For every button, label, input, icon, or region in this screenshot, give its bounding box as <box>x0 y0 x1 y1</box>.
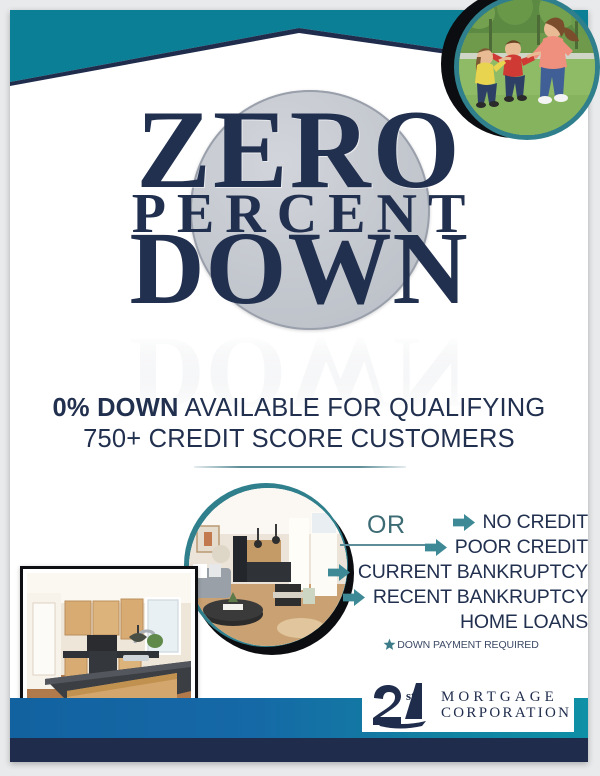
list-item: NO CREDIT <box>340 510 588 535</box>
living-room-photo <box>189 488 347 646</box>
headline-line-down: DOWN <box>10 224 588 313</box>
bottom-navy-bar <box>10 738 588 762</box>
offer-list: NO CREDIT POOR CREDIT CURRENT BANKRUPTCY… <box>340 510 588 651</box>
section-divider <box>194 466 406 468</box>
family-photo <box>459 0 595 135</box>
list-item-label: NO CREDIT <box>483 511 588 534</box>
flyer-root: DOWN ZERO PERCENT DOWN 0% DOWN AVAILABLE… <box>0 0 600 776</box>
living-room-interior-icon <box>189 488 347 646</box>
sub-headline: 0% DOWN AVAILABLE FOR QUALIFYING 750+ CR… <box>10 393 588 455</box>
right-arrow-icon <box>425 539 447 556</box>
list-item: HOME LOANS <box>340 610 588 635</box>
list-item-label: RECENT BANKRUPTCY <box>373 586 588 609</box>
list-item-label: POOR CREDIT <box>455 536 588 559</box>
star-icon <box>383 638 396 651</box>
sub-headline-rest: AVAILABLE FOR QUALIFYING <box>179 394 546 422</box>
family-playing-outdoors-icon <box>459 0 595 135</box>
family-photo-wrapper <box>441 0 600 150</box>
sub-headline-line-2: 750+ CREDIT SCORE CUSTOMERS <box>10 424 588 455</box>
right-arrow-icon <box>453 514 475 531</box>
list-item-label: HOME LOANS <box>460 611 588 634</box>
list-item-label: CURRENT BANKRUPTCY <box>358 561 588 584</box>
logo-line-2: CORPORATION <box>441 706 571 722</box>
sub-headline-bold: 0% DOWN <box>53 394 179 422</box>
list-item: RECENT BANKRUPTCY <box>340 585 588 610</box>
logo-wordmark: MORTGAGE CORPORATION <box>441 690 571 722</box>
list-item: CURRENT BANKRUPTCY <box>340 560 588 585</box>
company-logo: st MORTGAGE CORPORATION <box>362 680 574 732</box>
disclaimer-row: DOWN PAYMENT REQUIRED <box>340 638 582 651</box>
list-item: POOR CREDIT <box>340 535 588 560</box>
right-arrow-icon <box>343 589 365 606</box>
right-arrow-icon <box>328 564 350 581</box>
logo-line-1: MORTGAGE <box>441 690 571 706</box>
sub-headline-line-1: 0% DOWN AVAILABLE FOR QUALIFYING <box>10 393 588 424</box>
disclaimer-label: DOWN PAYMENT REQUIRED <box>397 639 538 651</box>
21st-sailboat-logo-icon: st <box>368 683 436 729</box>
svg-text:st: st <box>406 688 416 703</box>
